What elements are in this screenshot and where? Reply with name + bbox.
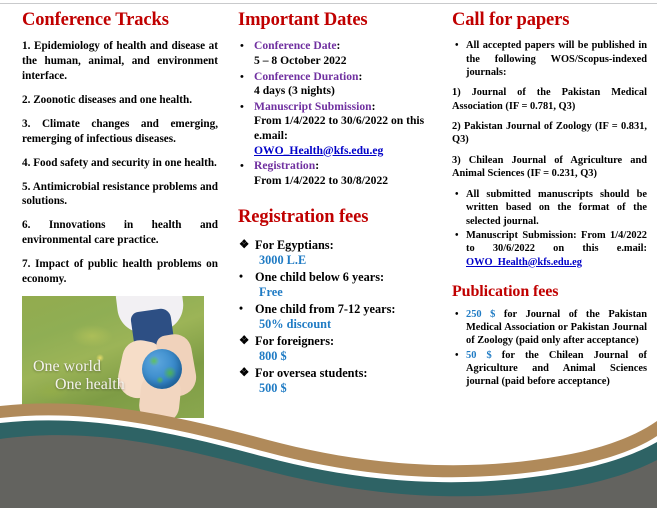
track-item-4: 4. Food safety and security in one healt…	[22, 156, 218, 171]
wave-band-teal	[0, 419, 657, 496]
track-item-7: 7. Impact of public health problems on e…	[22, 257, 218, 287]
call-for-papers-notes-list: • All submitted manuscripts should be wr…	[452, 188, 647, 269]
cfp-note-text: All submitted manuscripts should be writ…	[466, 189, 647, 227]
date-value: From 1/4/2022 to 30/6/2022 on this e.mai…	[254, 114, 435, 143]
date-item-conference-duration: • Conference Duration: 4 days (3 nights)	[238, 70, 435, 99]
publication-fee-price: 50 $	[466, 350, 492, 361]
fee-item-foreigners: ❖ For foreigners: 800 $	[238, 334, 435, 365]
diamond-bullet-icon: ❖	[239, 366, 249, 381]
fee-label: One child below 6 years:	[255, 270, 384, 284]
track-item-5: 5. Antimicrobial resistance problems and…	[22, 180, 218, 210]
fee-amount: 500 $	[255, 381, 435, 396]
heading-important-dates: Important Dates	[238, 10, 435, 30]
publication-fee-item-1: • 250 $ for Journal of the Pakistan Medi…	[452, 308, 647, 348]
track-item-3: 3. Climate changes and emerging, remergi…	[22, 117, 218, 147]
bullet-icon: •	[240, 70, 244, 84]
diamond-bullet-icon: ❖	[239, 334, 249, 349]
globe-icon	[142, 349, 182, 389]
colon: :	[372, 100, 376, 113]
registration-fees-list: ❖ For Egyptians: 3000 L.E • One child be…	[238, 238, 435, 397]
date-value: From 1/4/2022 to 30/8/2022	[254, 174, 435, 189]
bullet-icon: •	[455, 229, 459, 242]
date-item-conference-date: • Conference Date: 5 – 8 October 2022	[238, 39, 435, 68]
colon: :	[315, 159, 319, 172]
publication-fee-text: for the Chilean Journal of Agriculture a…	[466, 350, 647, 388]
heading-conference-tracks: Conference Tracks	[22, 10, 218, 30]
cfp-note-format: • All submitted manuscripts should be wr…	[452, 188, 647, 228]
bullet-icon: •	[239, 302, 243, 317]
journal-entry-3: 3) Chilean Journal of Agriculture and An…	[452, 154, 647, 181]
heading-call-for-papers: Call for papers	[452, 10, 647, 30]
date-value: 4 days (3 nights)	[254, 84, 435, 99]
date-item-manuscript-submission: • Manuscript Submission: From 1/4/2022 t…	[238, 100, 435, 158]
cfp-intro-text: All accepted papers will be published in…	[466, 40, 647, 78]
fee-label: For foreigners:	[255, 334, 334, 348]
photo-caption: One world One health	[33, 358, 125, 395]
cfp-intro-item: • All accepted papers will be published …	[452, 39, 647, 79]
fee-amount: 800 $	[255, 349, 435, 364]
call-for-papers-intro-list: • All accepted papers will be published …	[452, 39, 647, 79]
colon: :	[337, 39, 341, 52]
journal-entry-1: 1) Journal of the Pakistan Medical Assoc…	[452, 86, 647, 113]
publication-fee-price: 250 $	[466, 309, 495, 320]
column-conference-tracks: Conference Tracks 1. Epidemiology of hea…	[0, 10, 232, 418]
fee-label: One child from 7-12 years:	[255, 302, 395, 316]
journal-entry-2: 2) Pakistan Journal of Zoology (IF = 0.8…	[452, 120, 647, 147]
bullet-icon: •	[240, 159, 244, 173]
heading-registration-fees: Registration fees	[238, 207, 435, 227]
important-dates-list: • Conference Date: 5 – 8 October 2022 • …	[238, 39, 435, 188]
bullet-icon: •	[455, 308, 459, 321]
date-label: Conference Date	[254, 39, 337, 52]
fee-label: For oversea students:	[255, 366, 367, 380]
track-item-2: 2. Zoonotic diseases and one health.	[22, 93, 218, 108]
bullet-icon: •	[455, 39, 459, 52]
column-call-for-papers: Call for papers • All accepted papers wi…	[447, 10, 657, 390]
bullet-icon: •	[455, 188, 459, 201]
photo-caption-line1: One world	[33, 358, 101, 375]
bullet-icon: •	[239, 270, 243, 285]
heading-publication-fees: Publication fees	[452, 283, 647, 301]
colon: :	[358, 70, 362, 83]
column-important-dates: Important Dates • Conference Date: 5 – 8…	[232, 10, 447, 397]
publication-fee-item-2: • 50 $ for the Chilean Journal of Agricu…	[452, 349, 647, 389]
date-value: 5 – 8 October 2022	[254, 54, 435, 69]
fee-amount: 3000 L.E	[255, 253, 435, 268]
bullet-icon: •	[240, 39, 244, 53]
fee-item-child-below-6: • One child below 6 years: Free	[238, 270, 435, 301]
date-item-registration: • Registration: From 1/4/2022 to 30/8/20…	[238, 159, 435, 188]
fee-label: For Egyptians:	[255, 238, 334, 252]
fee-item-oversea-students: ❖ For oversea students: 500 $	[238, 366, 435, 397]
three-column-layout: Conference Tracks 1. Epidemiology of hea…	[0, 10, 657, 418]
bullet-icon: •	[240, 100, 244, 114]
track-item-1: 1. Epidemiology of health and disease at…	[22, 39, 218, 84]
top-divider-rule	[0, 3, 657, 4]
wave-band-gray	[0, 430, 657, 508]
diamond-bullet-icon: ❖	[239, 238, 249, 253]
submission-email-link[interactable]: OWO_Health@kfs.edu.eg	[254, 144, 383, 159]
wave-band-white-gap	[0, 412, 657, 482]
bullet-icon: •	[455, 349, 459, 362]
fee-amount: Free	[255, 285, 435, 300]
one-world-one-health-photo: One world One health	[22, 296, 204, 418]
photo-caption-line2: One health	[33, 376, 125, 394]
fee-item-child-7-12: • One child from 7-12 years: 50% discoun…	[238, 302, 435, 333]
date-label: Conference Duration	[254, 70, 358, 83]
fee-item-egyptians: ❖ For Egyptians: 3000 L.E	[238, 238, 435, 269]
date-label: Registration	[254, 159, 315, 172]
cfp-note-submission: • Manuscript Submission: From 1/4/2022 t…	[452, 229, 647, 269]
track-item-6: 6. Innovations in health and environment…	[22, 218, 218, 248]
fee-amount: 50% discount	[255, 317, 435, 332]
date-label: Manuscript Submission	[254, 100, 372, 113]
brochure-page: Conference Tracks 1. Epidemiology of hea…	[0, 0, 657, 508]
cfp-submission-text: Manuscript Submission: From 1/4/2022 to …	[466, 230, 647, 254]
submission-email-link[interactable]: OWO_Health@kfs.edu.eg	[466, 256, 582, 269]
publication-fees-list: • 250 $ for Journal of the Pakistan Medi…	[452, 308, 647, 389]
